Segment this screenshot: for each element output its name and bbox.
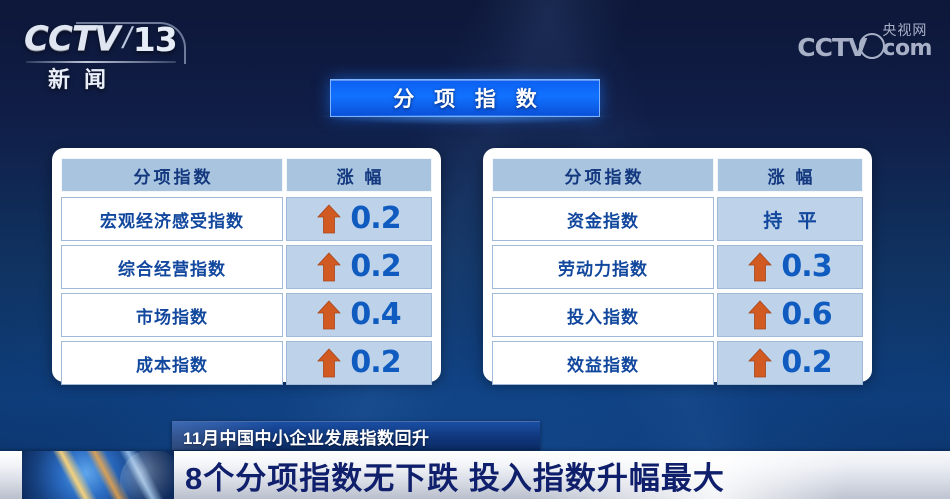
table-row: 投入指数0.6 [492, 293, 863, 337]
row-index-name: 宏观经济感受指数 [61, 197, 283, 241]
up-arrow-icon [317, 252, 341, 282]
table-row: 效益指数0.2 [492, 341, 863, 385]
up-arrow-icon [317, 204, 341, 234]
up-arrow-icon [748, 348, 772, 378]
left-table: 分项指数 涨 幅 宏观经济感受指数0.2综合经营指数0.2市场指数0.4成本指数… [52, 148, 441, 382]
column-header-name: 分项指数 [492, 158, 714, 192]
broadcast-screen: CCTV / 13 新闻 CCTV 央视网 com 分 项 指 数 分项指数 涨… [0, 0, 950, 499]
globe-graphic-icon [22, 451, 174, 499]
row-index-name: 资金指数 [492, 197, 714, 241]
table-row: 成本指数0.2 [61, 341, 432, 385]
row-change-value: 0.2 [717, 341, 863, 385]
change-number: 0.2 [350, 204, 400, 234]
table-row: 市场指数0.4 [61, 293, 432, 337]
table-header-row: 分项指数 涨 幅 [492, 158, 863, 192]
lower-third-headline: 8个分项指数无下跌 投入指数升幅最大 [185, 453, 725, 498]
change-flat-label: 持 平 [758, 206, 821, 233]
row-change-value: 0.3 [717, 245, 863, 289]
row-change-value: 0.2 [286, 197, 432, 241]
table-row: 资金指数持 平 [492, 197, 863, 241]
row-change-value: 0.4 [286, 293, 432, 337]
row-index-name: 劳动力指数 [492, 245, 714, 289]
up-arrow-icon [748, 300, 772, 330]
up-arrow-icon [748, 252, 772, 282]
change-number: 0.2 [781, 348, 831, 378]
logo-subtitle: 新闻 [48, 62, 168, 94]
watermark-cctv-text: CCTV [797, 35, 866, 60]
watermark-cn-text: 央视网 [882, 23, 927, 37]
chart-title-banner: 分 项 指 数 [330, 79, 600, 117]
column-header-value: 涨 幅 [717, 158, 863, 192]
table-row: 综合经营指数0.2 [61, 245, 432, 289]
column-header-name: 分项指数 [61, 158, 283, 192]
right-table: 分项指数 涨 幅 资金指数持 平劳动力指数0.3投入指数0.6效益指数0.2 [483, 148, 872, 382]
change-number: 0.3 [781, 252, 831, 282]
column-header-value: 涨 幅 [286, 158, 432, 192]
watermark-domain-text: com [882, 38, 932, 60]
up-arrow-icon [317, 348, 341, 378]
channel-logo: CCTV / 13 新闻 [24, 18, 184, 88]
row-index-name: 效益指数 [492, 341, 714, 385]
change-number: 0.2 [350, 252, 400, 282]
row-change-value: 0.6 [717, 293, 863, 337]
chart-title: 分 项 指 数 [386, 83, 544, 113]
table-row: 宏观经济感受指数0.2 [61, 197, 432, 241]
row-change-value: 0.2 [286, 245, 432, 289]
row-index-name: 综合经营指数 [61, 245, 283, 289]
lower-third-topic: 11月中国中小企业发展指数回升 [183, 424, 429, 449]
change-number: 0.4 [350, 300, 400, 330]
table-header-row: 分项指数 涨 幅 [61, 158, 432, 192]
up-arrow-icon [317, 300, 341, 330]
table-row: 劳动力指数0.3 [492, 245, 863, 289]
row-index-name: 投入指数 [492, 293, 714, 337]
row-change-value: 持 平 [717, 197, 863, 241]
row-change-value: 0.2 [286, 341, 432, 385]
row-index-name: 成本指数 [61, 341, 283, 385]
row-index-name: 市场指数 [61, 293, 283, 337]
change-number: 0.2 [350, 348, 400, 378]
corner-watermark: CCTV 央视网 com [797, 20, 932, 60]
lower-third-headline-bar: 8个分项指数无下跌 投入指数升幅最大 [0, 451, 950, 499]
lower-third-topic-bar: 11月中国中小企业发展指数回升 [172, 421, 540, 450]
change-number: 0.6 [781, 300, 831, 330]
